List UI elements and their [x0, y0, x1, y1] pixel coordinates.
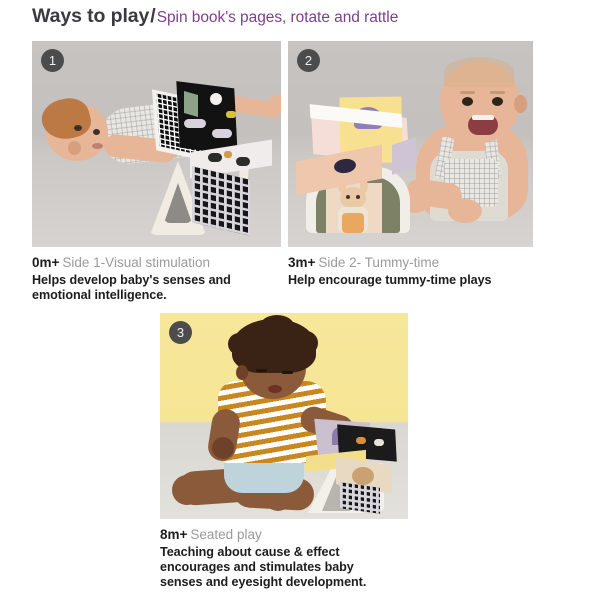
bunny-eye-left	[346, 195, 350, 199]
book-dot-white	[374, 439, 384, 446]
photo-scene-seated-play	[160, 313, 408, 519]
book-page-checker-small	[340, 482, 380, 514]
toddler-eye-left	[256, 369, 267, 372]
baby-mouth	[92, 143, 103, 149]
play-card-3: 3 8m+Seated play Teaching about cause & …	[160, 313, 408, 519]
step-badge-2: 2	[297, 49, 320, 72]
book-dot-orange	[356, 437, 366, 444]
book-shape-3	[224, 151, 232, 158]
play-photo-3: 3	[160, 313, 408, 519]
toddler-eye-right	[282, 371, 293, 374]
bunny-overall	[342, 213, 364, 233]
book-photo-face	[352, 467, 374, 485]
baby-teeth	[472, 115, 494, 120]
book-shape-1	[208, 153, 222, 162]
description-3: Teaching about cause & effect encourages…	[160, 545, 388, 591]
baby-hair	[444, 57, 514, 87]
book-cloud-2	[212, 129, 232, 138]
step-badge-1: 1	[41, 49, 64, 72]
book-green-accent	[184, 91, 198, 117]
play-photo-2: 2	[288, 41, 533, 247]
book-moon	[210, 93, 222, 105]
baby-eye-left	[74, 125, 82, 131]
play-caption-1: 0m+Side 1-Visual stimulation Helps devel…	[32, 254, 281, 303]
description-2: Help encourage tummy-time plays	[288, 273, 518, 288]
caption-line-3: 8m+Seated play	[160, 526, 408, 543]
page-subtitle: Spin book's pages, rotate and rattle	[157, 9, 399, 26]
photo-scene-tummy-time	[288, 41, 533, 247]
page-title-separator: /	[149, 5, 156, 27]
step-badge-3: 3	[169, 321, 192, 344]
caption-line-2: 3m+Side 2- Tummy-time	[288, 254, 533, 271]
toddler-hair-curl-1	[228, 333, 250, 355]
book-star	[226, 111, 236, 118]
baby-ear	[68, 141, 81, 155]
description-1: Helps develop baby's senses and emotiona…	[32, 273, 247, 303]
baby-brow-right	[490, 91, 505, 94]
toddler-foot-left	[172, 475, 202, 505]
toddler-hair-curl-2	[294, 331, 318, 355]
book-shape-2	[236, 157, 250, 166]
play-card-1: 1 0m+Side 1-Visual stimulation Helps dev…	[32, 41, 281, 247]
page-title-main: Ways to play	[32, 5, 149, 27]
side-label-1: Side 1-Visual stimulation	[59, 255, 210, 270]
age-label-1: 0m+	[32, 255, 59, 270]
photo-scene-baby-lying	[32, 41, 281, 247]
baby-eye-right	[93, 129, 100, 135]
play-photo-1: 1	[32, 41, 281, 247]
play-card-2: 2 3m+Side 2- Tummy-time Help encourage t…	[288, 41, 533, 247]
baby-hand-right	[268, 95, 281, 111]
toddler-mouth	[268, 385, 282, 393]
caption-line-1: 0m+Side 1-Visual stimulation	[32, 254, 281, 271]
book-cloud-1	[184, 119, 206, 128]
play-caption-3: 8m+Seated play Teaching about cause & ef…	[160, 526, 408, 591]
bunny-eye-right	[356, 195, 360, 199]
baby-ear	[514, 95, 527, 113]
side-label-3: Seated play	[187, 527, 261, 542]
side-label-2: Side 2- Tummy-time	[315, 255, 439, 270]
page-title: Ways to play/Spin book's pages, rotate a…	[32, 7, 398, 27]
baby-hand-right	[448, 199, 482, 223]
age-label-2: 3m+	[288, 255, 315, 270]
play-caption-2: 3m+Side 2- Tummy-time Help encourage tum…	[288, 254, 533, 288]
baby-eye-right	[492, 97, 503, 106]
toddler-ear	[236, 365, 248, 380]
toddler-hair-curl-3	[260, 315, 294, 337]
baby-eye-left	[462, 97, 473, 106]
baby-brow-left	[460, 91, 475, 94]
age-label-3: 8m+	[160, 527, 187, 542]
toddler-hand-left	[212, 437, 234, 459]
